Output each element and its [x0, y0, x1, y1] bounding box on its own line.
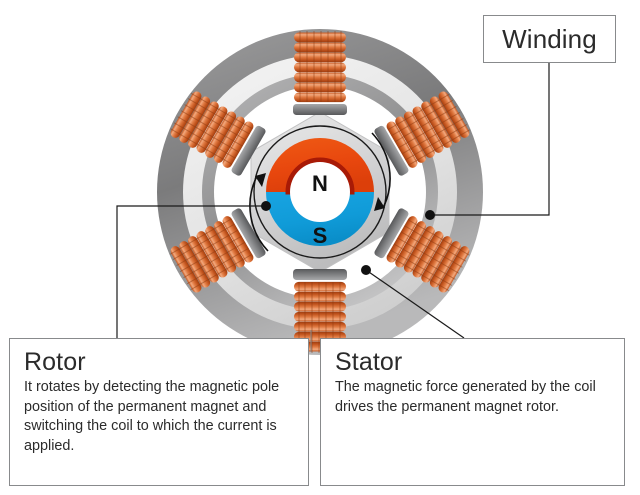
callout-winding[interactable]: Winding [483, 15, 616, 63]
callout-stator-title: Stator [335, 348, 610, 376]
leader-dot-stator [361, 265, 371, 275]
callout-rotor-title: Rotor [24, 348, 294, 376]
callout-rotor-body: It rotates by detecting the magnetic pol… [24, 378, 294, 456]
leader-dot-winding [425, 210, 435, 220]
callout-rotor[interactable]: Rotor It rotates by detecting the magnet… [9, 338, 309, 486]
diagram-canvas: N S [0, 0, 640, 495]
leader-dot-rotor [261, 201, 271, 211]
leader-rotor [117, 201, 271, 338]
leader-stator [361, 265, 464, 338]
callout-stator[interactable]: Stator The magnetic force generated by t… [320, 338, 625, 486]
callout-winding-title: Winding [502, 24, 597, 54]
callout-stator-body: The magnetic force generated by the coil… [335, 378, 610, 417]
leader-winding [425, 63, 549, 220]
